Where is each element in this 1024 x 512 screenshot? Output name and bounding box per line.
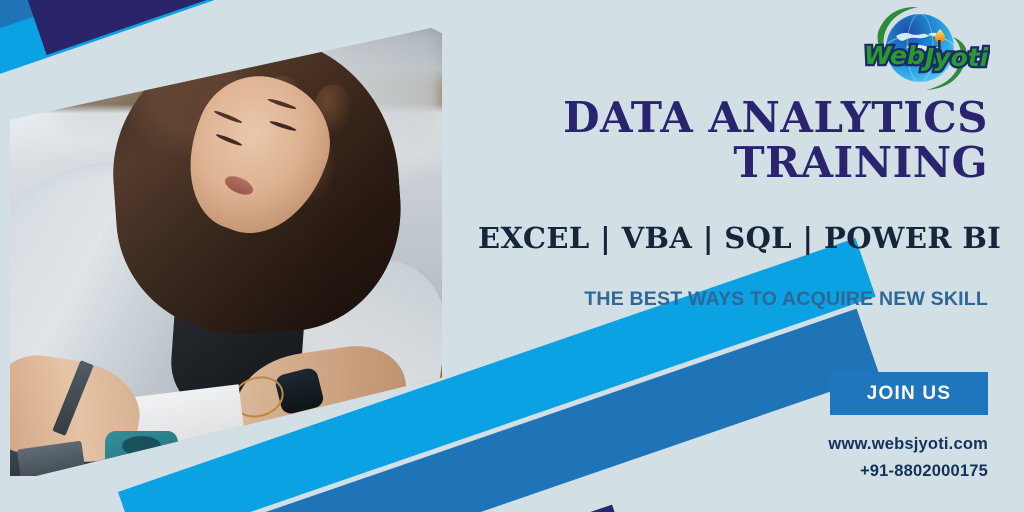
tagline: THE BEST WAYS TO ACQUIRE NEW SKILL xyxy=(478,288,988,311)
course-list: EXCEL | VBA | SQL | POWER BI xyxy=(478,221,988,255)
hero-photo xyxy=(10,28,442,476)
brand-logo[interactable]: Webs Webs Jyoti Jyoti xyxy=(862,2,990,94)
page-title-line-1: DATA ANALYTICS xyxy=(478,96,988,141)
page-title: DATA ANALYTICS TRAINING xyxy=(478,96,988,186)
brand-logo-svg: Webs Webs Jyoti Jyoti xyxy=(862,2,990,94)
promo-banner: DATA ANALYTICS TRAINING EXCEL | VBA | SQ… xyxy=(0,0,1024,512)
contact-block: www.websjyoti.com +91-8802000175 xyxy=(478,431,988,484)
website-url[interactable]: www.websjyoti.com xyxy=(478,431,988,458)
hero-photo-image xyxy=(10,28,442,476)
decor-band-navy-top-left xyxy=(5,0,359,55)
phone-number[interactable]: +91-8802000175 xyxy=(478,458,988,485)
page-title-line-2: TRAINING xyxy=(478,141,988,186)
photo-overlay xyxy=(10,28,442,476)
brand-word-2: Jyoti xyxy=(920,43,989,72)
join-us-button[interactable]: JOIN US xyxy=(830,372,988,415)
